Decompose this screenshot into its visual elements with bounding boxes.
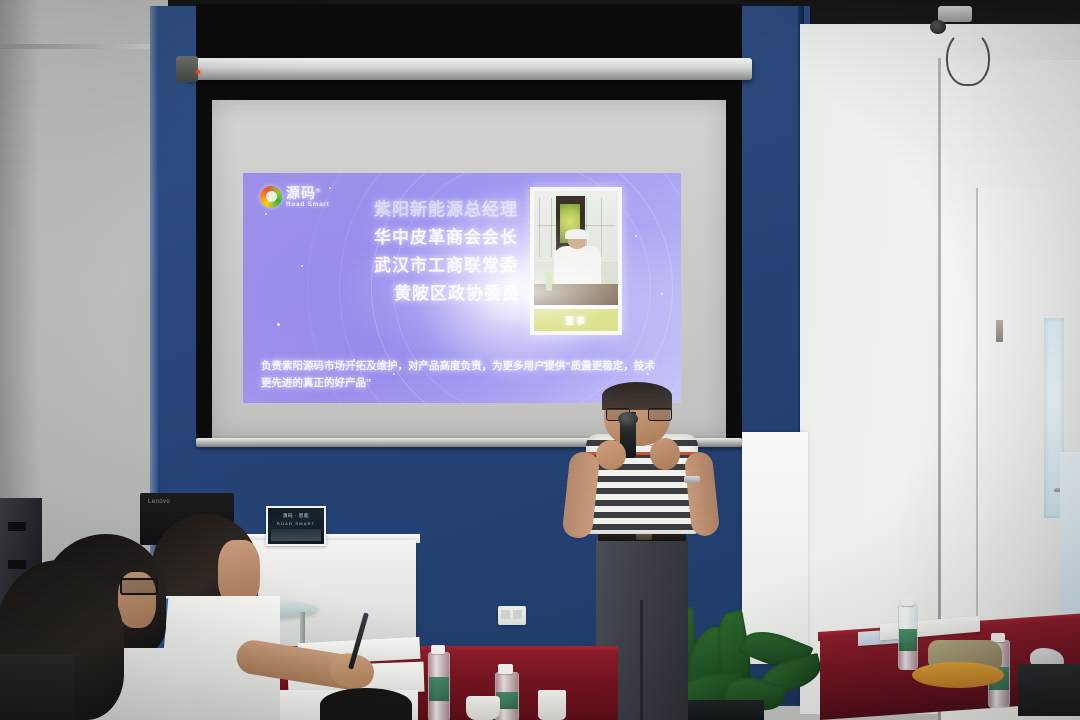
brand-name-en: Road Smart (286, 202, 329, 209)
brand-name-cn: 源码® (286, 186, 329, 200)
wall-light-switch[interactable] (498, 606, 526, 625)
slide-note-text: 负责紫阳源码市场开拓及维护，对产品高度负责，为更多用户提供“质量更稳定，技术更先… (261, 358, 665, 391)
sign-card-line1: 源码 · 智能 (272, 513, 320, 519)
sign-card-line2: ROAD SMART (272, 521, 320, 526)
camera-lens-icon (930, 20, 946, 34)
slide-portrait-caption: 董事 (534, 309, 618, 331)
photo-person-cap (565, 229, 589, 239)
slide-headline-list: 紫阳新能源总经理 华中皮革商会会长 武汉市工商联常委 黄陂区政协委员 (339, 195, 553, 304)
slide-headline-4: 黄陂区政协委员 (339, 279, 553, 304)
bottle-cap (498, 664, 513, 674)
speaker-glasses-right-lens (648, 408, 672, 421)
slide-portrait-photo (534, 191, 618, 305)
rack-slot (8, 522, 26, 531)
paper-cup (538, 690, 566, 720)
slide-star (635, 235, 637, 237)
slide-star (301, 265, 303, 267)
photo-cabinet-line (551, 198, 552, 257)
bottle-cap (901, 597, 914, 606)
water-bottle (898, 604, 918, 670)
power-led-icon (196, 70, 200, 74)
slide-star (277, 323, 280, 326)
screen-housing (186, 58, 752, 80)
security-camera-icon (938, 6, 972, 22)
speaker-leg-seam (640, 600, 643, 720)
speaker-right-hand (650, 438, 680, 470)
speaker-hair (602, 382, 672, 410)
switch-rocker-right[interactable] (513, 610, 522, 619)
snack-plate (912, 662, 1004, 688)
speaker-left-hand (596, 440, 626, 470)
brand-logo-text: 源码® Road Smart (286, 186, 329, 209)
switch-rocker-left[interactable] (501, 610, 510, 619)
monitor-brand-label: Lenovo (148, 499, 170, 505)
ceiling-seam (0, 44, 172, 49)
attendee-2-glasses (120, 578, 158, 595)
wall-left-shadow (0, 0, 40, 560)
door-hinge (996, 320, 1003, 342)
speaker-wristwatch (684, 476, 700, 483)
slide-headline-2: 华中皮革商会会长 (339, 223, 553, 248)
slide-portrait-caption-text: 董事 (565, 314, 587, 327)
microphone-head-icon (618, 412, 638, 426)
brand-name-cn-text: 源码 (286, 185, 316, 201)
sign-card-image (271, 529, 321, 541)
slide-star (661, 293, 663, 295)
photo-cabinet-line (601, 198, 602, 257)
rack-slot (8, 560, 26, 569)
slide-star (265, 213, 267, 215)
brand-logo: 源码® Road Smart (260, 186, 329, 209)
slide-headline-3: 武汉市工商联常委 (339, 251, 553, 276)
photo-scene: 源码® Road Smart 紫阳新能源总经理 华中皮革商会会长 武汉市工商联常… (0, 0, 1080, 720)
projected-slide: 源码® Road Smart 紫阳新能源总经理 华中皮革商会会长 武汉市工商联常… (243, 173, 681, 403)
photo-cabinet-line (539, 198, 540, 257)
window-pane (1060, 452, 1080, 640)
attendee-4-hair (320, 688, 412, 720)
photo-bottle (546, 271, 553, 292)
paper-cup (466, 696, 500, 720)
display-sign-card: 源码 · 智能 ROAD SMART (266, 506, 326, 546)
screen-housing-endcap (176, 56, 198, 82)
water-bottle (428, 652, 450, 720)
trademark-symbol: ® (316, 188, 321, 194)
bottle-label (899, 629, 917, 651)
slide-headline-1: 紫阳新能源总经理 (339, 195, 553, 220)
slide-portrait-card: 董事 (530, 187, 622, 335)
tissue-box (1018, 664, 1080, 716)
attendee-1-shoulder (0, 654, 74, 720)
bottle-label (429, 677, 449, 700)
bottle-cap (431, 645, 445, 654)
logo-mark-icon (260, 186, 282, 208)
camera-cable (946, 30, 990, 86)
